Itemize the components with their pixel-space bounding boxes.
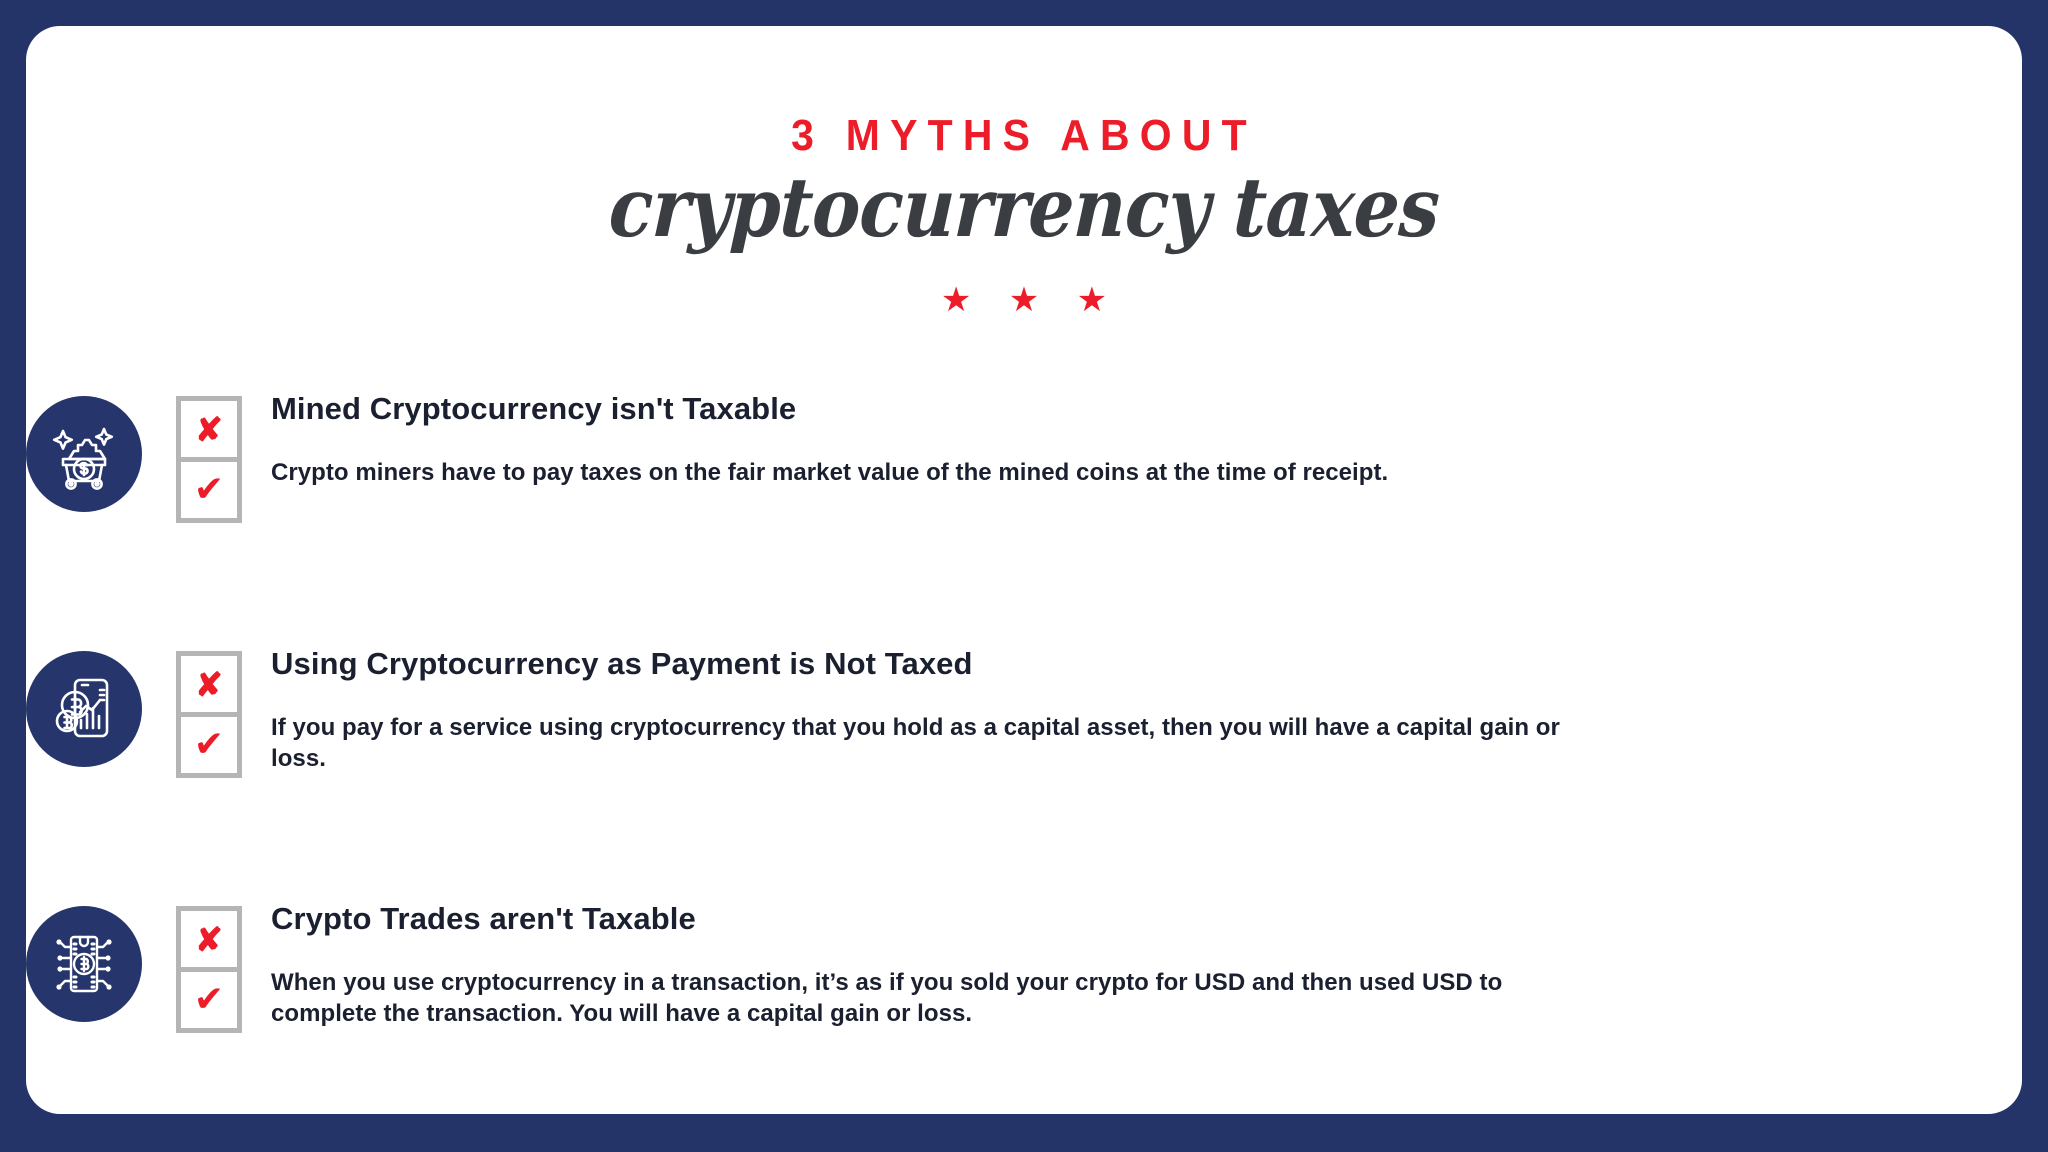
check-icon: ✔	[194, 472, 224, 508]
x-icon: ✘	[195, 923, 223, 956]
true-mark-box[interactable]: ✔	[176, 967, 242, 1033]
list-item: ✘ ✔ Crypto Trades aren't Taxable When yo…	[26, 886, 2022, 1141]
myth-title: Mined Cryptocurrency isn't Taxable	[271, 390, 1691, 429]
mark-group: ✘ ✔	[176, 651, 242, 778]
title-block: 3 MYTHS ABOUT cryptocurrency taxes ★ ★ ★	[26, 114, 2022, 317]
false-mark-box[interactable]: ✘	[176, 396, 242, 462]
mark-group: ✘ ✔	[176, 906, 242, 1033]
white-panel: 3 MYTHS ABOUT cryptocurrency taxes ★ ★ ★	[26, 26, 2022, 1114]
true-mark-box[interactable]: ✔	[176, 712, 242, 778]
myth-list: ✘ ✔ Mined Cryptocurrency isn't Taxable C…	[26, 376, 2022, 1141]
bitcoin-microchip-icon	[26, 906, 142, 1022]
myth-text: Using Cryptocurrency as Payment is Not T…	[271, 631, 1691, 775]
navy-frame: 3 MYTHS ABOUT cryptocurrency taxes ★ ★ ★	[0, 0, 2048, 1152]
true-mark-box[interactable]: ✔	[176, 457, 242, 523]
x-icon: ✘	[195, 668, 223, 701]
list-item: ✘ ✔ Mined Cryptocurrency isn't Taxable C…	[26, 376, 2022, 631]
myth-body: If you pay for a service using cryptocur…	[271, 712, 1571, 775]
myth-body: Crypto miners have to pay taxes on the f…	[271, 457, 1571, 489]
check-icon: ✔	[194, 727, 224, 763]
false-mark-box[interactable]: ✘	[176, 651, 242, 717]
false-mark-box[interactable]: ✘	[176, 906, 242, 972]
star-divider: ★ ★ ★	[26, 283, 2022, 317]
check-icon: ✔	[194, 982, 224, 1018]
mark-group: ✘ ✔	[176, 396, 242, 523]
myth-title: Using Cryptocurrency as Payment is Not T…	[271, 645, 1691, 684]
eyebrow-text: 3 MYTHS ABOUT	[96, 114, 1952, 158]
mining-cart-dollar-icon	[26, 396, 142, 512]
page-title: cryptocurrency taxes	[144, 164, 1905, 253]
myth-text: Crypto Trades aren't Taxable When you us…	[271, 886, 1691, 1030]
myth-body: When you use cryptocurrency in a transac…	[271, 967, 1571, 1030]
list-item: ✘ ✔ Using Cryptocurrency as Payment is N…	[26, 631, 2022, 886]
myth-title: Crypto Trades aren't Taxable	[271, 900, 1691, 939]
myth-text: Mined Cryptocurrency isn't Taxable Crypt…	[271, 376, 1691, 488]
x-icon: ✘	[195, 413, 223, 446]
smartphone-bitcoin-chart-icon	[26, 651, 142, 767]
